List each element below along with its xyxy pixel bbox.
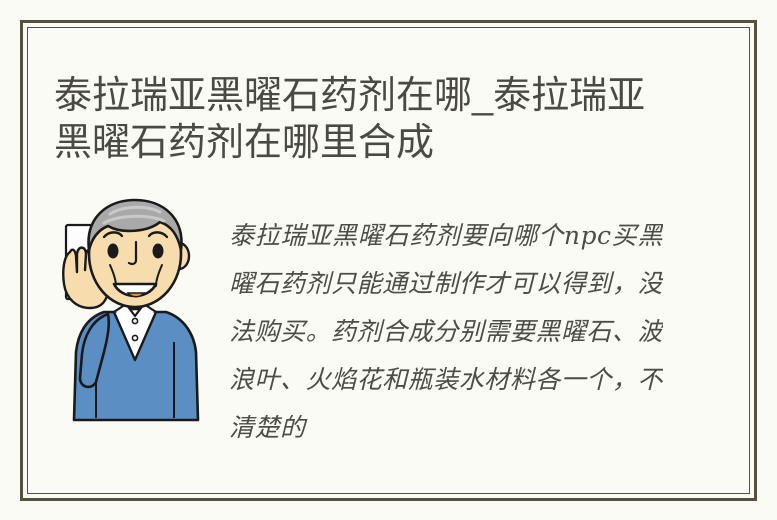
eye-right xyxy=(153,244,164,259)
article-page: 泰拉瑞亚黑曜石药剂在哪_泰拉瑞亚黑曜石药剂在哪里合成 xyxy=(0,0,777,520)
elderly-man-on-phone-illustration xyxy=(52,192,218,428)
eye-left xyxy=(108,244,119,259)
shirt-button xyxy=(132,335,137,340)
shirt-button xyxy=(132,318,137,323)
article-body-text: 泰拉瑞亚黑曜石药剂要向哪个npc买黑曜石药剂只能通过制作才可以得到，没法购买。药… xyxy=(229,212,663,452)
page-title: 泰拉瑞亚黑曜石药剂在哪_泰拉瑞亚黑曜石药剂在哪里合成 xyxy=(54,73,674,167)
